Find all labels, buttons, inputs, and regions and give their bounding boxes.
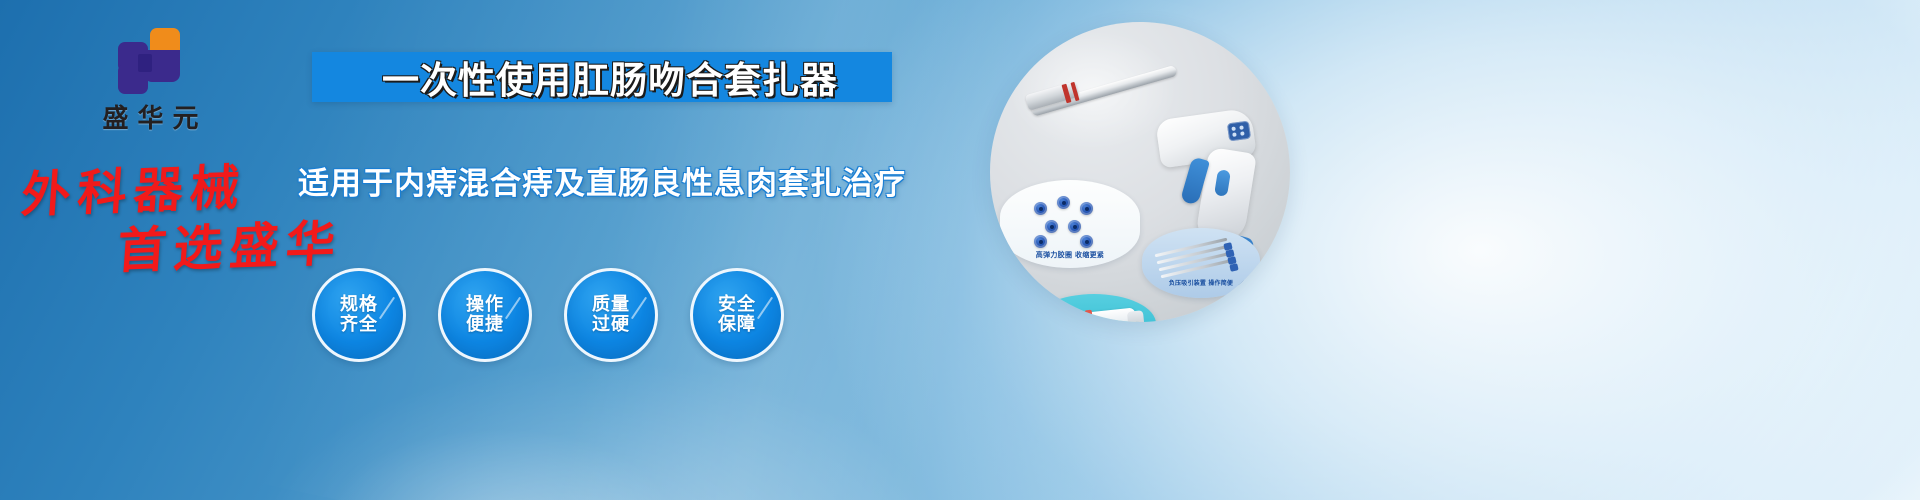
feature-label-line1: 操作 bbox=[466, 295, 504, 315]
slash-decoration-icon bbox=[757, 297, 773, 320]
rubber-ring-icon bbox=[1057, 196, 1070, 209]
rubber-rings-caption: 高弹力胶圈 收缩更紧 bbox=[1000, 250, 1140, 260]
feature-label-line1: 安全 bbox=[718, 295, 756, 315]
brand-logo[interactable]: 盛华元 bbox=[60, 28, 250, 133]
slash-decoration-icon bbox=[379, 297, 395, 320]
slash-decoration-icon bbox=[505, 297, 521, 320]
feature-label-line1: 质量 bbox=[592, 295, 630, 315]
promotional-banner: 盛华元 外科器械 首选盛华 一次性使用肛肠吻合套扎器 适用于内痔混合痔及直肠良性… bbox=[0, 0, 1920, 500]
feature-badge-quality[interactable]: 质量 过硬 bbox=[564, 268, 658, 362]
feature-badge-specifications[interactable]: 规格 齐全 bbox=[312, 268, 406, 362]
feature-label-line2: 过硬 bbox=[592, 315, 630, 335]
feature-label-line2: 便捷 bbox=[466, 315, 504, 335]
device-control-pad-icon bbox=[1227, 121, 1251, 142]
rubber-rings-panel: 高弹力胶圈 收缩更紧 bbox=[1000, 180, 1140, 268]
feature-badge-list: 规格 齐全 操作 便捷 质量 过硬 安全 保障 bbox=[312, 268, 852, 360]
brand-name: 盛华元 bbox=[60, 98, 250, 135]
rubber-ring-icon bbox=[1068, 220, 1081, 233]
feature-label-line2: 齐全 bbox=[340, 315, 378, 335]
page-title: 一次性使用肛肠吻合套扎器 bbox=[330, 53, 890, 101]
feature-label-line2: 保障 bbox=[718, 315, 756, 335]
ligator-rods-panel: 负压吸引装置 操作简便 bbox=[1142, 228, 1260, 298]
feature-badge-safety[interactable]: 安全 保障 bbox=[690, 268, 784, 362]
feature-badge-operation[interactable]: 操作 便捷 bbox=[438, 268, 532, 362]
rubber-ring-icon bbox=[1045, 220, 1058, 233]
rubber-ring-icon bbox=[1080, 202, 1093, 215]
rubber-ring-icon bbox=[1034, 235, 1047, 248]
anoscope-cap bbox=[1127, 310, 1145, 322]
slash-decoration-icon bbox=[631, 297, 647, 320]
ligator-rods-caption: 负压吸引装置 操作简便 bbox=[1142, 278, 1260, 287]
logo-mark-icon bbox=[118, 28, 196, 94]
product-photo: 高弹力胶圈 收缩更紧 负压吸引装置 操作简便 bbox=[990, 22, 1290, 322]
ligator-cap bbox=[1229, 263, 1238, 272]
rubber-ring-icon bbox=[1034, 202, 1047, 215]
anoscope-panel bbox=[1032, 294, 1156, 322]
rubber-ring-icon bbox=[1080, 235, 1093, 248]
slogan-line-2: 首选盛华 bbox=[115, 204, 345, 283]
page-subtitle: 适用于内痔混合痔及直肠良性息肉套扎治疗 bbox=[298, 158, 898, 203]
feature-label-line1: 规格 bbox=[340, 295, 378, 315]
